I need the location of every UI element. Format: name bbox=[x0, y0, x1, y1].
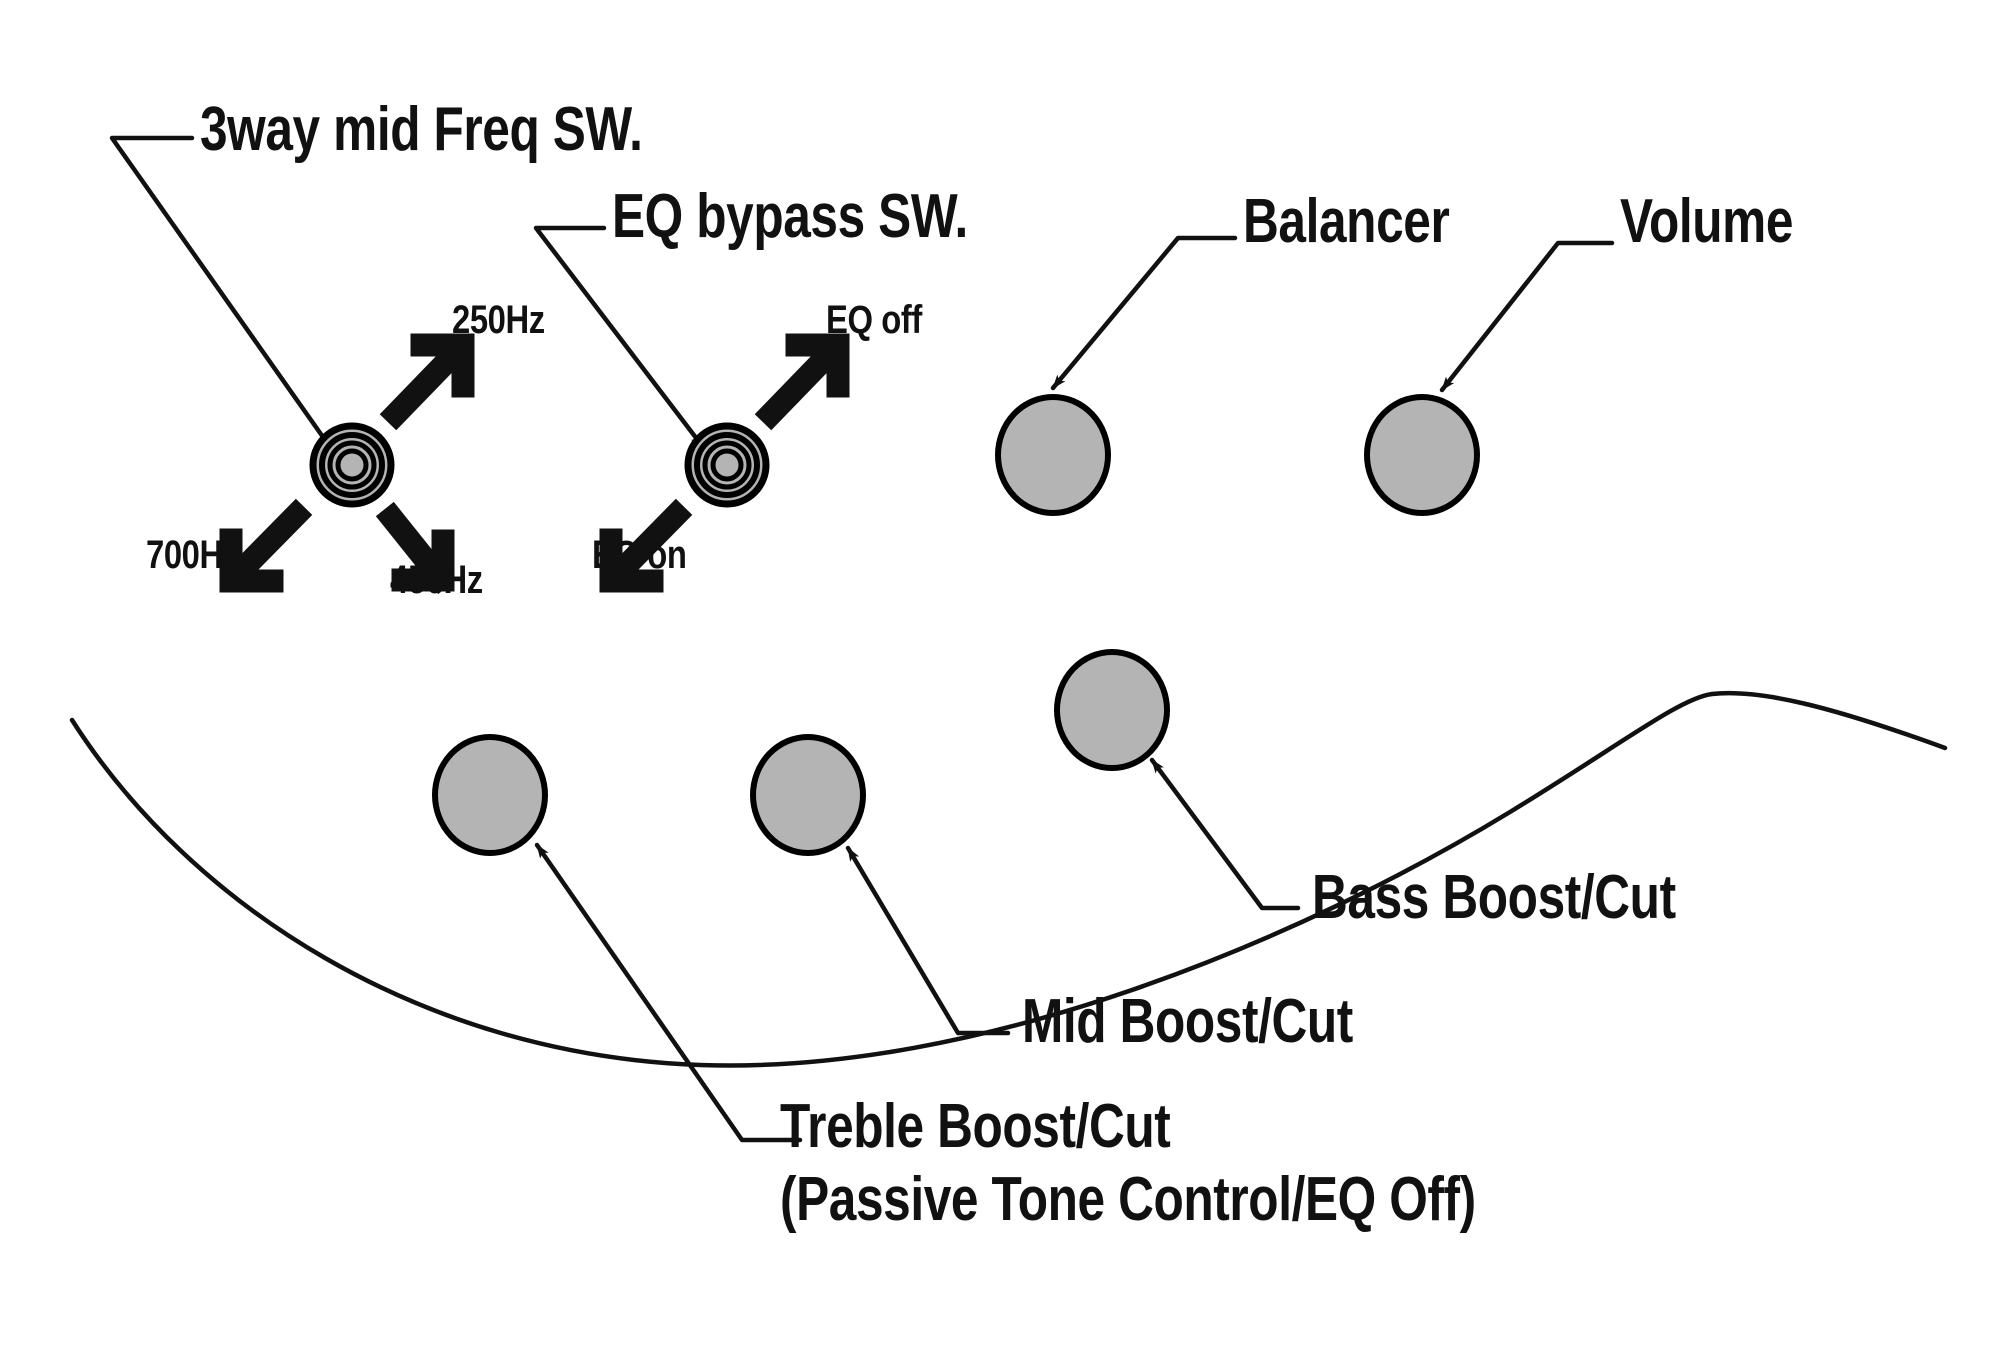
label-treble-boost-cut-line1: Treble Boost/Cut bbox=[780, 1095, 1170, 1158]
switch-eq-bypass[interactable] bbox=[688, 426, 766, 504]
label-bass-boost-cut: Bass Boost/Cut bbox=[1312, 866, 1676, 929]
label-eq-off: EQ off bbox=[826, 300, 922, 341]
knob-treble bbox=[435, 737, 545, 853]
arrow-eq-off bbox=[771, 345, 838, 414]
leader-bass-boost-cut bbox=[1152, 760, 1298, 908]
leader-treble-boost-cut bbox=[537, 845, 800, 1140]
leader-eq-bypass bbox=[536, 228, 703, 447]
knob-balancer bbox=[998, 397, 1108, 513]
knob-bass bbox=[1057, 652, 1167, 768]
label-treble-boost-cut-line2: (Passive Tone Control/EQ Off) bbox=[780, 1168, 1476, 1231]
knob-volume bbox=[1367, 397, 1477, 513]
knob-mid bbox=[753, 737, 863, 853]
label-balancer: Balancer bbox=[1243, 190, 1449, 253]
leader-balancer bbox=[1053, 238, 1235, 388]
label-250hz: 250Hz bbox=[452, 300, 545, 341]
label-volume: Volume bbox=[1620, 190, 1793, 253]
label-450hz: 450Hz bbox=[390, 560, 483, 601]
arrow-250hz bbox=[396, 345, 463, 414]
label-700hz: 700Hz bbox=[146, 535, 239, 576]
arrow-700hz bbox=[231, 515, 296, 581]
label-eq-on: EQ on bbox=[592, 535, 687, 576]
leader-3way-mid-freq bbox=[112, 138, 330, 447]
preamp-control-diagram: 3way mid Freq SW. EQ bypass SW. Balancer… bbox=[0, 0, 2000, 1350]
leader-mid-boost-cut bbox=[848, 848, 1008, 1033]
label-mid-boost-cut: Mid Boost/Cut bbox=[1022, 990, 1353, 1053]
switch-3way-mid-freq[interactable] bbox=[313, 426, 391, 504]
leader-volume bbox=[1442, 243, 1612, 390]
label-3way-mid-freq-sw: 3way mid Freq SW. bbox=[200, 98, 642, 161]
label-eq-bypass-sw: EQ bypass SW. bbox=[612, 185, 968, 248]
